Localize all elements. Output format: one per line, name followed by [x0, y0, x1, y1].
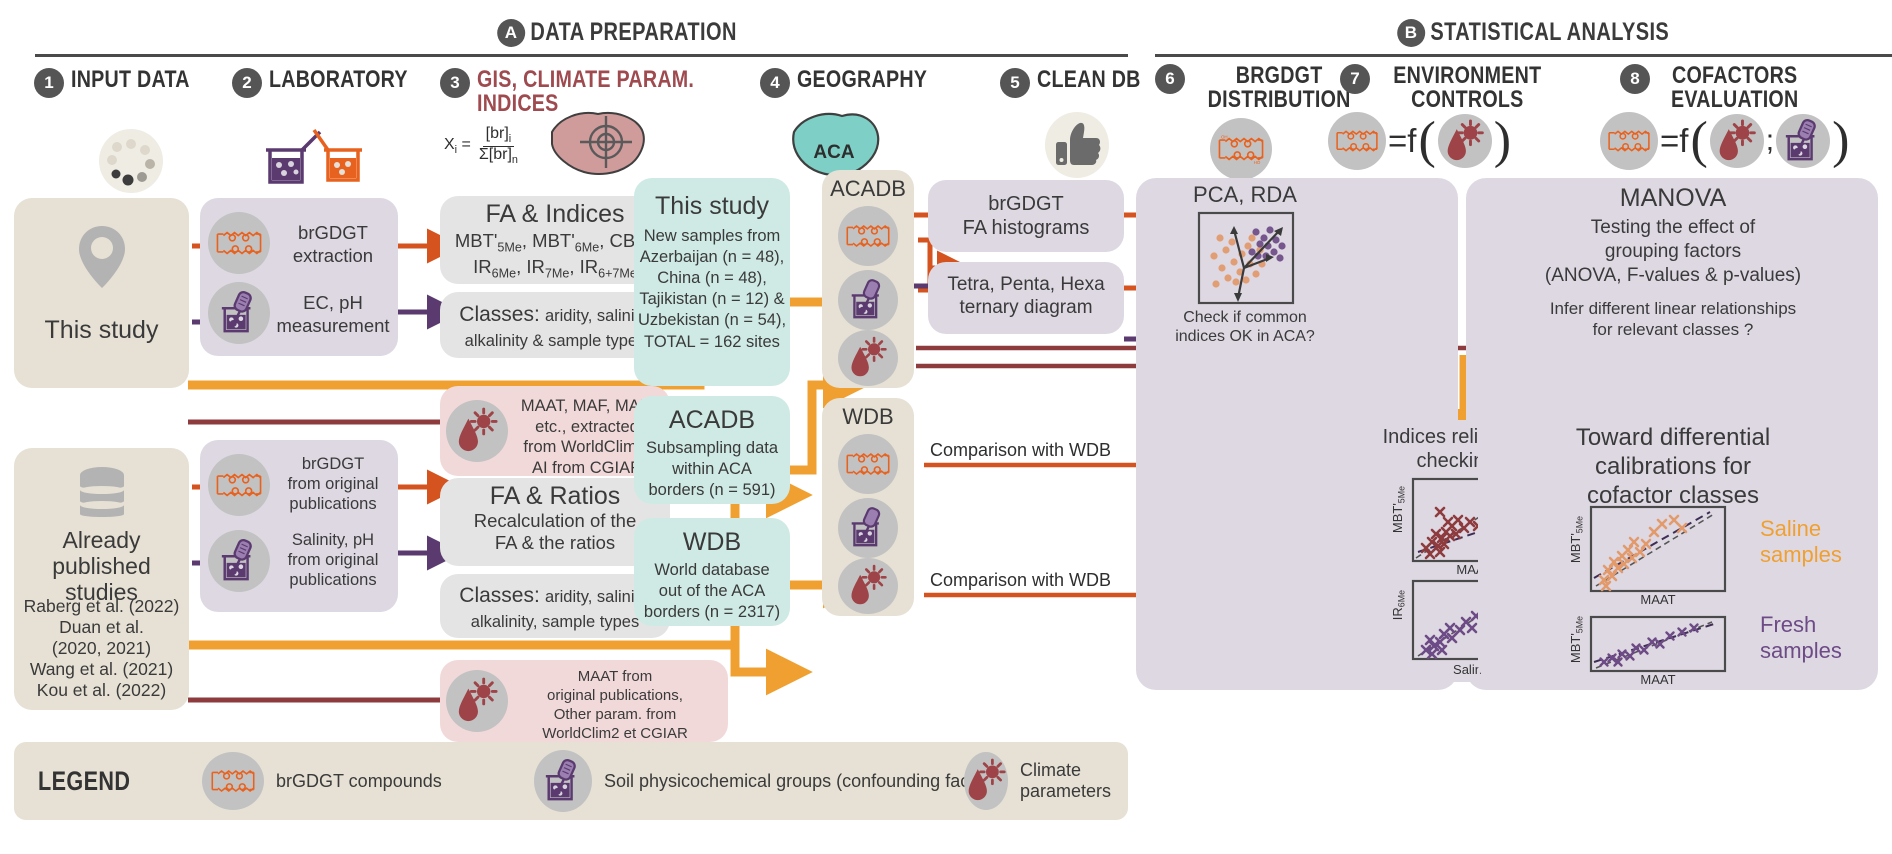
manova-infer-text: Infer different linear relationships for…: [1478, 298, 1868, 341]
lab-ecph-label: EC, pH measurement: [272, 292, 394, 337]
step-3-badge: 3: [440, 68, 470, 98]
fresh-plot-xlabel: MAAT: [1590, 672, 1726, 687]
geo-this-study-text: New samples from Azerbaijan (n = 48), Ch…: [634, 226, 790, 353]
step7-equation: =f ( ): [1328, 112, 1511, 170]
saline-plot-xlabel: MAAT: [1590, 592, 1726, 607]
ternary-text: Tetra, Penta, Hexa ternary diagram: [928, 262, 1124, 320]
step6-brgdgt-icon: OH HO: [1210, 118, 1272, 180]
climate-pub-text: MAAT from original publications, Other p…: [508, 668, 722, 744]
input-published-box[interactable]: Already published studies Raberg et al. …: [14, 448, 189, 710]
step8-brgdgt-icon: [1600, 112, 1658, 170]
cleandb-wdb-label: WDB: [822, 404, 914, 430]
legend-item-climate: Climate parameters: [964, 752, 1128, 810]
svg-text:OH: OH: [1221, 135, 1228, 140]
input-published-refs: Raberg et al. (2022) Duan et al. (2020, …: [14, 596, 189, 701]
cleandb-acadb-brgdgt-icon: [838, 206, 898, 266]
flowchart-canvas: A Data Preparation B Statistical Analysi…: [0, 0, 1892, 854]
laboratory-beakers-icon: [258, 120, 380, 190]
step-7-badge: 7: [1340, 64, 1370, 94]
step-6-badge: 6: [1155, 64, 1185, 94]
pca-rda-title: PCA, RDA: [1150, 182, 1340, 208]
legend-bar: Legend brGDGT compounds: [14, 742, 1128, 820]
geo-wdb-title: WDB: [634, 528, 790, 556]
classes-label-1: Classes:: [459, 303, 540, 326]
index-formula: Xi = [br]i Σ[br]n: [444, 126, 521, 166]
pca-rda-box[interactable]: PCA, RDA: [1150, 180, 1340, 348]
saline-plot: MBT'5Me: [1568, 506, 1748, 610]
section-header-b: B Statistical Analysis: [1400, 18, 1669, 47]
saline-plot-ylabel: MBT'5Me: [1568, 516, 1585, 563]
step-4-geography: 4 Geography: [760, 68, 956, 98]
section-title-a: Data Preparation: [530, 18, 736, 47]
section-header-a: A Data Preparation: [500, 18, 737, 47]
comparison-label-top: Comparison with WDB: [930, 440, 1111, 461]
classes-label-2: Classes:: [459, 584, 540, 607]
step-6-brgdgt-distribution: 6 BrGDGT Distribution: [1155, 64, 1366, 113]
brgdgt-molecule-icon: [202, 752, 264, 810]
fresh-samples-label: Fresh samples: [1760, 612, 1860, 665]
fresh-plot-ylabel: MBT'5Me: [1568, 616, 1585, 663]
step7-climate-icon: [1438, 114, 1492, 168]
step-4-badge: 4: [760, 68, 790, 98]
step-8-label: Cofactors Evaluation: [1671, 64, 1798, 113]
step8-soil-icon: [1776, 114, 1830, 168]
reliability-plot-1-ylabel: MBT'5Me: [1390, 486, 1407, 533]
legend-item-brgdgt: brGDGT compounds: [202, 752, 442, 810]
cleandb-acadb-label: ACADB: [822, 176, 914, 202]
step-8-badge: 8: [1620, 64, 1650, 94]
geo-acadb-box[interactable]: ACADB Subsampling data within ACA border…: [634, 396, 790, 504]
saline-samples-label: Saline samples: [1760, 516, 1860, 569]
database-icon: [76, 466, 128, 522]
step7-brgdgt-icon: [1328, 112, 1386, 170]
climate-pub-icon: [446, 670, 508, 732]
step-1-label: Input Data: [71, 68, 190, 92]
step-2-laboratory: 2 Laboratory: [232, 68, 438, 98]
geo-acadb-title: ACADB: [634, 406, 790, 434]
histograms-text: brGDGT FA histograms: [928, 180, 1124, 240]
legend-label-climate: Climate parameters: [1020, 760, 1128, 802]
lab-pub-brgdgt-label: brGDGT from original publications: [272, 454, 394, 514]
lab-published-box[interactable]: brGDGT from original publications Salini…: [200, 440, 398, 612]
step-5-clean-db: 5 Clean DB: [1000, 68, 1163, 98]
manova-box[interactable]: MANOVA Testing the effect of grouping fa…: [1478, 180, 1868, 348]
soil-beaker-icon: [534, 750, 592, 812]
step-7-environment-controls: 7 Environment Controls: [1340, 64, 1558, 113]
lab-pub-brgdgt-icon: [208, 454, 270, 516]
step-8-cofactors-evaluation: 8 Cofactors Evaluation: [1620, 64, 1812, 113]
histograms-box[interactable]: brGDGT FA histograms: [928, 180, 1124, 252]
gis-map-target-icon: [540, 104, 652, 180]
comparison-label-bottom: Comparison with WDB: [930, 570, 1111, 591]
step-5-badge: 5: [1000, 68, 1030, 98]
legend-label-soil: Soil physicochemical groups (confounding…: [604, 771, 1005, 792]
geo-acadb-text: Subsampling data within ACA borders (n =…: [634, 438, 790, 500]
step-6-label: BrGDGT Distribution: [1208, 64, 1351, 113]
svg-text:HO: HO: [1254, 160, 1261, 165]
climate-pub-box[interactable]: MAAT from original publications, Other p…: [440, 660, 728, 742]
cleandb-wdb-box[interactable]: WDB: [822, 398, 914, 616]
reliability-plot-2-ylabel: IR6Me: [1390, 590, 1407, 620]
section-badge-b: B: [1397, 19, 1425, 47]
cleandb-wdb-climate-icon: [838, 558, 898, 614]
pca-scatter-plot: [1198, 212, 1294, 304]
lab-soil-icon: [208, 282, 270, 344]
calibration-title: Toward differential calibrations for cof…: [1478, 424, 1868, 510]
step-2-badge: 2: [232, 68, 262, 98]
lab-brgdgt-icon: [208, 212, 270, 274]
step-1-badge: 1: [34, 68, 64, 98]
manova-title: MANOVA: [1478, 184, 1868, 213]
step-5-label: Clean DB: [1037, 68, 1141, 92]
input-published-title: Already published studies: [14, 528, 189, 605]
location-pin-icon: [76, 222, 128, 292]
cleandb-acadb-climate-icon: [838, 330, 898, 386]
fresh-plot: MBT'5Me: [1568, 616, 1748, 688]
thumbs-up-icon: [1040, 110, 1114, 180]
step-7-label: Environment Controls: [1393, 64, 1541, 113]
legend-title: Legend: [38, 766, 130, 797]
step8-climate-icon: [1710, 114, 1764, 168]
input-this-study-box[interactable]: This study: [14, 198, 189, 388]
climate-this-icon: [446, 400, 508, 462]
lab-brgdgt-label: brGDGT extraction: [272, 222, 394, 267]
calibration-box[interactable]: Toward differential calibrations for cof…: [1478, 420, 1868, 682]
geo-wdb-text: World database out of the ACA borders (n…: [634, 560, 790, 622]
legend-label-brgdgt: brGDGT compounds: [276, 771, 442, 792]
geo-this-study-box[interactable]: This study New samples from Azerbaijan (…: [634, 178, 790, 386]
section-badge-a: A: [497, 19, 525, 47]
climate-sun-drop-icon: [964, 752, 1008, 810]
cleandb-wdb-brgdgt-icon: [838, 434, 898, 494]
lab-pub-soil-icon: [208, 530, 270, 592]
legend-item-soil: Soil physicochemical groups (confounding…: [534, 750, 1005, 812]
petri-dish-icon: [96, 128, 166, 194]
pca-caption: Check if common indices OK in ACA?: [1150, 308, 1340, 346]
section-title-b: Statistical Analysis: [1430, 18, 1669, 47]
cleandb-wdb-soil-icon: [838, 498, 898, 558]
cleandb-acadb-soil-icon: [838, 270, 898, 330]
ternary-box[interactable]: Tetra, Penta, Hexa ternary diagram: [928, 262, 1124, 334]
geo-wdb-box[interactable]: WDB World database out of the ACA border…: [634, 518, 790, 626]
step-1-input-data: 1 Input Data: [34, 68, 216, 98]
aca-map-label: ACA: [813, 142, 854, 163]
cleandb-acadb-box[interactable]: ACADB: [822, 170, 914, 388]
section-rule-b: [1155, 54, 1892, 57]
step8-equation: =f ( ;: [1600, 112, 1849, 170]
section-rule-a: [35, 54, 1128, 57]
geo-this-study-title: This study: [634, 192, 790, 220]
manova-text: Testing the effect of grouping factors (…: [1478, 216, 1868, 287]
step-4-label: Geography: [797, 68, 927, 92]
lab-this-study-box[interactable]: brGDGT extraction EC, pH measurement: [200, 198, 398, 356]
step-2-label: Laboratory: [269, 68, 408, 92]
lab-pub-salinity-label: Salinity, pH from original publications: [272, 530, 394, 590]
input-this-study-label: This study: [14, 316, 189, 344]
